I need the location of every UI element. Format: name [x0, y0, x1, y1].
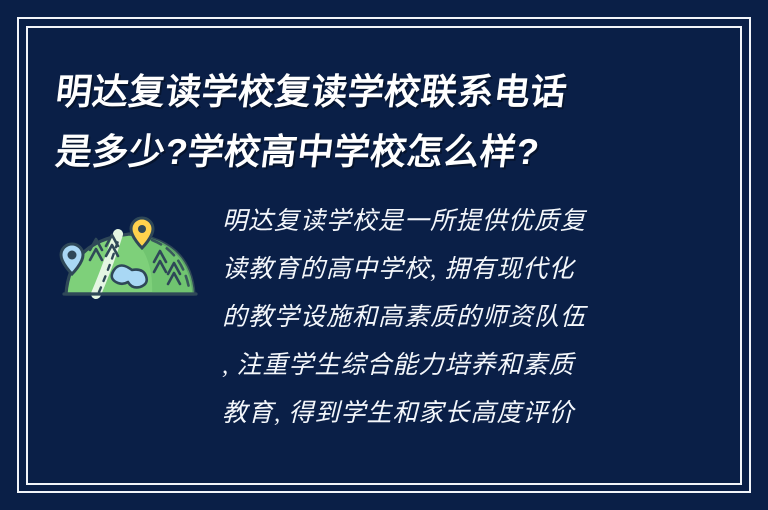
frame-mask-bottom-left [19, 469, 49, 491]
title-line-1: 明达复读学校复读学校联系电话 [52, 62, 699, 122]
map-hill-illustration [56, 204, 204, 304]
body-line: 明达复读学校是一所提供优质复 [222, 198, 586, 246]
page-title: 明达复读学校复读学校联系电话 是多少?学校高中学校怎么样? [56, 62, 696, 182]
body-line: 读教育的高中学校, 拥有现代化 [222, 246, 586, 294]
content-row: 明达复读学校是一所提供优质复 读教育的高中学校, 拥有现代化 的教学设施和高素质… [56, 198, 716, 438]
frame-mask-top-right [727, 19, 749, 49]
body-line: 的教学设施和高素质的师资队伍 [222, 294, 586, 342]
body-line: , 注重学生综合能力培养和素质 [222, 342, 586, 390]
poster-canvas: 明达复读学校复读学校联系电话 是多少?学校高中学校怎么样? [0, 0, 768, 510]
title-line-2: 是多少?学校高中学校怎么样? [52, 122, 699, 182]
body-line: 教育, 得到学生和家长高度评价 [222, 390, 586, 438]
body-paragraph: 明达复读学校是一所提供优质复 读教育的高中学校, 拥有现代化 的教学设施和高素质… [222, 198, 586, 438]
